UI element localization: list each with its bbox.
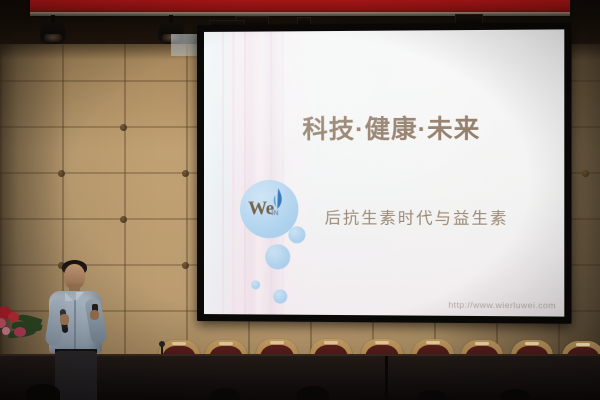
plant-flower	[14, 327, 26, 337]
slide-stripe	[232, 32, 235, 315]
table-seam	[385, 356, 388, 400]
slide-title: 科技·健康·未来	[302, 109, 558, 146]
audience-head	[297, 386, 329, 400]
slide-bubble	[273, 289, 287, 303]
wall-boss	[182, 262, 189, 269]
wall-window	[171, 34, 197, 56]
audience-head	[418, 390, 446, 400]
slide-subtitle: 后抗生素时代与益生素	[325, 204, 560, 229]
wall-boss	[58, 170, 65, 177]
presenter	[44, 258, 122, 400]
slide-stripe	[270, 31, 272, 314]
slide-stripe	[244, 32, 246, 315]
slide-logo: We IN	[240, 180, 298, 238]
projection-screen-surface: We IN 科技·健康·未来 后抗生素时代与益生素 http://www.wie…	[204, 29, 564, 316]
slide-stripe	[282, 31, 283, 314]
projection-screen: We IN 科技·健康·未来 后抗生素时代与益生素 http://www.wie…	[197, 22, 572, 324]
wall-boss	[182, 170, 189, 177]
audience-head	[500, 389, 530, 400]
plant-flower	[8, 312, 19, 322]
stage-light-left-icon	[40, 22, 66, 44]
logo-wordmark: We	[248, 199, 274, 218]
slide-stripe	[256, 32, 260, 315]
wall-boss	[120, 124, 127, 131]
floral-arrangement	[0, 296, 52, 348]
presentation-photo-scene: We IN 科技·健康·未来 后抗生素时代与益生素 http://www.wie…	[0, 0, 600, 400]
slide-url: http://www.wierluwei.com	[448, 300, 556, 311]
plant-flower	[2, 327, 10, 335]
presenter-hand-right	[90, 310, 99, 320]
audience-head	[26, 384, 60, 400]
presenter-shirt-placket	[74, 300, 76, 350]
audience-head	[210, 388, 240, 400]
wall-boss	[582, 170, 589, 177]
red-stage-valance	[30, 0, 570, 14]
presenter-collar-right	[76, 292, 84, 301]
logo-submark: IN	[271, 210, 279, 217]
slide-bubble	[251, 280, 260, 289]
slide-stripe	[222, 32, 224, 314]
presenter-trousers	[55, 351, 97, 400]
slide-bubble	[265, 244, 290, 269]
slide-canvas: We IN 科技·健康·未来 后抗生素时代与益生素 http://www.wie…	[204, 29, 564, 316]
wall-boss	[120, 216, 127, 223]
presenter-collar-left	[65, 292, 73, 301]
presenter-hand-left	[60, 314, 69, 325]
